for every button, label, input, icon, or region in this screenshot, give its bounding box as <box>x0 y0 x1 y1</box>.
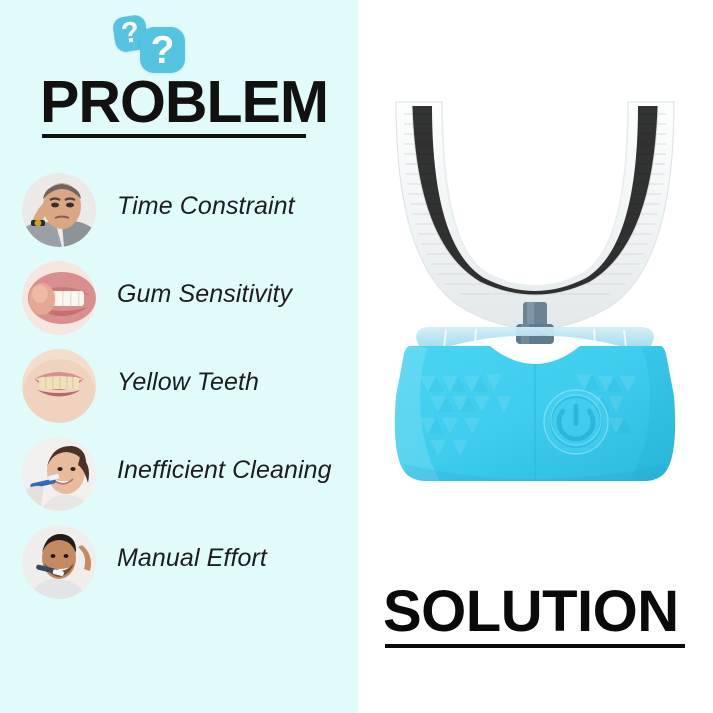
man-brushing-photo <box>22 525 96 599</box>
solution-panel: SOLUTION <box>358 0 713 713</box>
list-item-label: Manual Effort <box>117 544 267 573</box>
list-item: Gum Sensitivity <box>0 259 400 347</box>
frustrated-man-photo <box>22 173 96 247</box>
list-item-label: Time Constraint <box>117 192 295 221</box>
list-item: Manual Effort <box>0 523 400 611</box>
gum-closeup-photo <box>22 261 96 335</box>
problem-solution-poster: ? ? PROBLEM <box>0 0 713 713</box>
list-item-label: Yellow Teeth <box>117 368 259 397</box>
list-item: Time Constraint <box>0 171 400 259</box>
question-marks-group: ? ? <box>110 12 202 74</box>
power-button-icon <box>544 390 608 454</box>
problem-heading: PROBLEM <box>40 73 328 132</box>
solution-heading: SOLUTION <box>383 583 679 641</box>
list-item-label: Inefficient Cleaning <box>117 456 332 485</box>
u-shaped-automatic-toothbrush <box>380 96 690 486</box>
question-mark-icon-large: ? <box>140 27 185 73</box>
woman-brushing-photo <box>22 437 96 511</box>
list-item-label: Gum Sensitivity <box>117 280 292 309</box>
problem-list: Time Constraint <box>0 171 400 611</box>
yellow-teeth-photo <box>22 349 96 423</box>
list-item: Yellow Teeth <box>0 347 400 435</box>
solution-heading-underline <box>385 644 685 648</box>
problem-panel: ? ? PROBLEM <box>0 0 358 713</box>
problem-heading-underline <box>42 134 306 138</box>
list-item: Inefficient Cleaning <box>0 435 400 523</box>
